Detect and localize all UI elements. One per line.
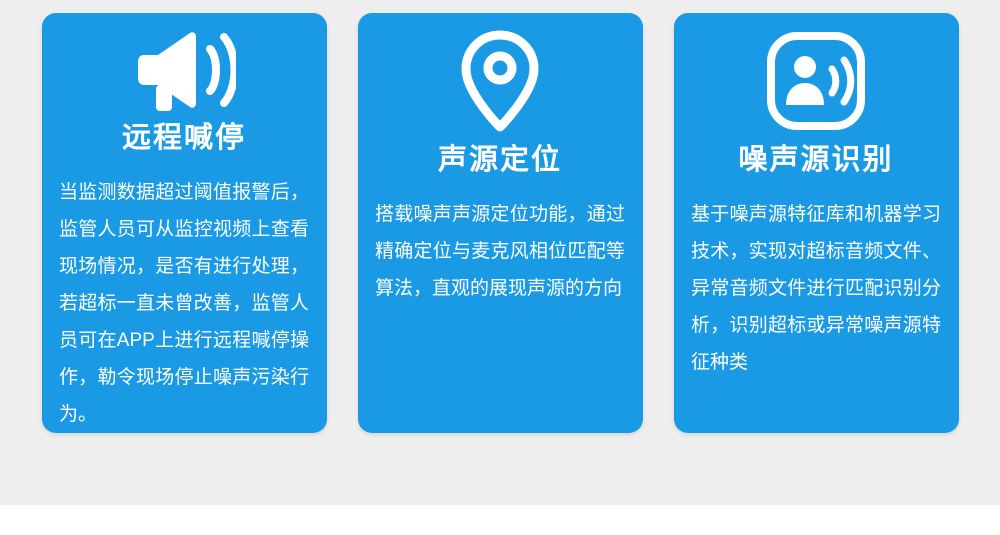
feature-card-sound-localization[interactable]: 声源定位 搭载噪声声源定位功能，通过精确定位与麦克风相位匹配等算法，直观的展现声…	[358, 13, 643, 433]
feature-card-noise-source-identification[interactable]: 噪声源识别 基于噪声源特征库和机器学习技术，实现对超标音频文件、异常音频文件进行…	[674, 13, 959, 433]
card-title: 噪声源识别	[738, 143, 893, 178]
card-title: 远程喊停	[122, 121, 246, 156]
person-sound-icon	[766, 21, 866, 141]
card-title: 声源定位	[438, 143, 562, 178]
page-root: 远程喊停 当监测数据超过阈值报警后，监管人员可从监控视频上查看现场情况，是否有进…	[0, 0, 1000, 535]
location-pin-icon	[456, 21, 544, 141]
card-body-text: 基于噪声源特征库和机器学习技术，实现对超标音频文件、异常音频文件进行匹配识别分析…	[691, 196, 941, 381]
card-body-text: 搭载噪声声源定位功能，通过精确定位与麦克风相位匹配等算法，直观的展现声源的方向	[375, 196, 625, 307]
feature-card-remote-stop[interactable]: 远程喊停 当监测数据超过阈值报警后，监管人员可从监控视频上查看现场情况，是否有进…	[42, 13, 327, 433]
card-body-text: 当监测数据超过阈值报警后，监管人员可从监控视频上查看现场情况，是否有进行处理，若…	[59, 174, 309, 433]
feature-cards-container: 远程喊停 当监测数据超过阈值报警后，监管人员可从监控视频上查看现场情况，是否有进…	[0, 0, 1000, 505]
megaphone-icon	[132, 21, 236, 119]
